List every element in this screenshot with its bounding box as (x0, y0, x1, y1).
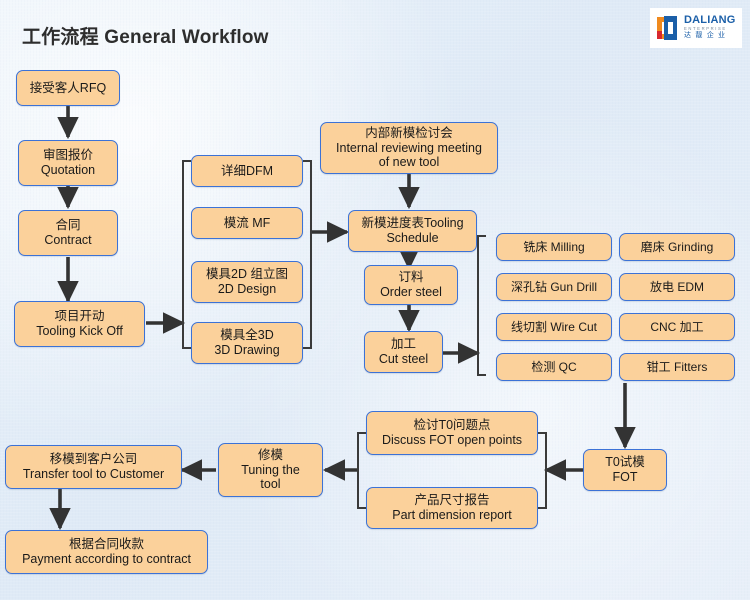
node-edm-cn: 放电 EDM (650, 280, 704, 294)
node-contract-cn: 合同 (55, 218, 80, 233)
node-2d-design-en: 2D Design (218, 282, 276, 297)
node-internal-review-cn: 内部新模检讨会 (365, 126, 453, 141)
node-wire-cut[interactable]: 线切割 Wire Cut (496, 313, 612, 341)
node-qc[interactable]: 检测 QC (496, 353, 612, 381)
node-cut-steel-cn: 加工 (391, 337, 416, 352)
node-tuning-tool-en2: tool (260, 477, 280, 492)
node-part-dimension-report-en: Part dimension report (392, 508, 512, 523)
node-part-dimension-report[interactable]: 产品尺寸报告 Part dimension report (366, 487, 538, 529)
node-cnc[interactable]: CNC 加工 (619, 313, 735, 341)
node-cut-steel-en: Cut steel (379, 352, 428, 367)
logo-text-block: DALIANG ENTERPRISE 达 靓 企 业 (684, 15, 736, 40)
logo-chinese-name: 达 靓 企 业 (684, 32, 736, 40)
node-tuning-tool[interactable]: 修模 Tuning the tool (218, 443, 323, 497)
node-quotation-en: Quotation (41, 163, 95, 178)
bracket-fot-review-left (358, 433, 366, 508)
company-logo: DALIANG ENTERPRISE 达 靓 企 业 (650, 8, 742, 48)
node-edm[interactable]: 放电 EDM (619, 273, 735, 301)
node-part-dimension-report-cn: 产品尺寸报告 (414, 493, 489, 508)
node-internal-review-en: Internal reviewing meeting (336, 141, 482, 156)
node-qc-cn: 检测 QC (531, 360, 576, 374)
node-discuss-fot[interactable]: 检讨T0问题点 Discuss FOT open points (366, 411, 538, 455)
node-3d-drawing-cn: 模具全3D (220, 328, 273, 343)
node-grinding-cn: 磨床 Grinding (641, 240, 714, 254)
node-order-steel-cn: 订料 (398, 270, 423, 285)
node-gun-drill[interactable]: 深孔钻 Gun Drill (496, 273, 612, 301)
node-order-steel-en: Order steel (380, 285, 442, 300)
node-cut-steel[interactable]: 加工 Cut steel (364, 331, 443, 373)
node-transfer-tool-cn: 移模到客户公司 (50, 452, 138, 467)
node-discuss-fot-en: Discuss FOT open points (382, 433, 522, 448)
node-fot-en: FOT (613, 470, 638, 485)
node-2d-design-cn: 模具2D 组立图 (206, 267, 288, 282)
node-detailed-dfm-cn: 详细DFM (221, 164, 273, 179)
node-payment-cn: 根据合同收款 (69, 537, 144, 552)
node-mold-flow[interactable]: 模流 MF (191, 207, 303, 239)
node-fot-cn: T0试模 (605, 455, 645, 470)
node-tooling-schedule[interactable]: 新模进度表Tooling Schedule (348, 210, 477, 252)
node-order-steel[interactable]: 订料 Order steel (364, 265, 458, 305)
node-tuning-tool-en: Tuning the (241, 463, 300, 478)
node-accept-rfq[interactable]: 接受客人RFQ (16, 70, 120, 106)
node-fot[interactable]: T0试模 FOT (583, 449, 667, 491)
node-milling-cn: 铣床 Milling (523, 240, 584, 254)
node-tooling-kick-off[interactable]: 项目开动 Tooling Kick Off (14, 301, 145, 347)
node-mold-flow-cn: 模流 MF (224, 216, 271, 231)
bracket-operations-left (478, 236, 486, 375)
node-fitters[interactable]: 钳工 Fitters (619, 353, 735, 381)
node-payment-en: Payment according to contract (22, 552, 191, 567)
logo-mark-icon (653, 13, 681, 43)
node-grinding[interactable]: 磨床 Grinding (619, 233, 735, 261)
node-cnc-cn: CNC 加工 (650, 320, 703, 334)
node-milling[interactable]: 铣床 Milling (496, 233, 612, 261)
node-quotation-cn: 审图报价 (43, 148, 93, 163)
node-payment[interactable]: 根据合同收款 Payment according to contract (5, 530, 208, 574)
node-tooling-kick-off-en: Tooling Kick Off (36, 324, 123, 339)
node-internal-review-en2: of new tool (379, 155, 439, 170)
node-transfer-tool-en: Transfer tool to Customer (23, 467, 164, 482)
node-quotation[interactable]: 审图报价 Quotation (18, 140, 118, 186)
bracket-fot-review-right (538, 433, 546, 508)
node-fitters-cn: 钳工 Fitters (647, 360, 708, 374)
node-accept-rfq-cn: 接受客人RFQ (30, 81, 106, 96)
node-transfer-tool[interactable]: 移模到客户公司 Transfer tool to Customer (5, 445, 182, 489)
node-wire-cut-cn: 线切割 Wire Cut (511, 320, 597, 334)
bracket-design-right (303, 161, 311, 348)
node-tooling-schedule-cn: 新模进度表Tooling (361, 216, 463, 231)
node-internal-review[interactable]: 内部新模检讨会 Internal reviewing meeting of ne… (320, 122, 498, 174)
node-contract[interactable]: 合同 Contract (18, 210, 118, 256)
node-gun-drill-cn: 深孔钻 Gun Drill (511, 280, 597, 294)
node-discuss-fot-cn: 检讨T0问题点 (413, 418, 490, 433)
node-tuning-tool-cn: 修模 (258, 448, 283, 463)
node-tooling-schedule-en: Schedule (386, 231, 438, 246)
node-detailed-dfm[interactable]: 详细DFM (191, 155, 303, 187)
bracket-design-left (183, 161, 191, 348)
node-tooling-kick-off-cn: 项目开动 (54, 309, 104, 324)
node-contract-en: Contract (44, 233, 91, 248)
node-3d-drawing-en: 3D Drawing (214, 343, 279, 358)
logo-name: DALIANG (684, 15, 736, 26)
page-title: 工作流程 General Workflow (22, 22, 269, 49)
node-2d-design[interactable]: 模具2D 组立图 2D Design (191, 261, 303, 303)
node-3d-drawing[interactable]: 模具全3D 3D Drawing (191, 322, 303, 364)
